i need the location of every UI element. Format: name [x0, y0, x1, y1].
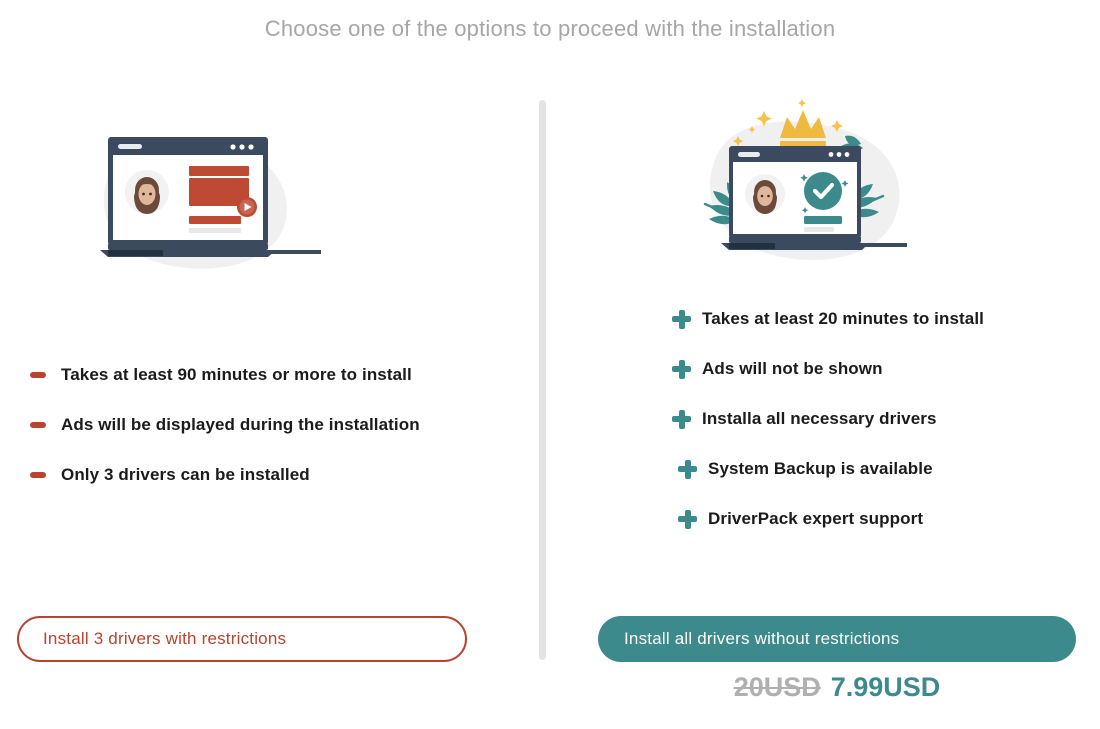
laptop-premium-crown-illustration — [691, 88, 921, 268]
list-item: Only 3 drivers can be installed — [30, 458, 569, 492]
free-plan-feature-list: Takes at least 90 minutes or more to ins… — [30, 358, 569, 508]
feature-label: Ads will be displayed during the install… — [61, 415, 420, 435]
feature-label: Takes at least 20 minutes to install — [702, 309, 984, 329]
feature-label: DriverPack expert support — [708, 509, 923, 529]
plus-icon — [672, 410, 691, 429]
minus-icon — [30, 372, 46, 378]
list-item: Takes at least 90 minutes or more to ins… — [30, 358, 569, 392]
install-restricted-button[interactable]: Install 3 drivers with restrictions — [17, 616, 467, 662]
feature-label: System Backup is available — [708, 459, 933, 479]
feature-label: Ads will not be shown — [702, 359, 883, 379]
price-row: 20USD7.99USD — [598, 672, 1076, 703]
list-item: DriverPack expert support — [672, 502, 1100, 536]
feature-label: Takes at least 90 minutes or more to ins… — [61, 365, 412, 385]
paid-plan-column: Takes at least 20 minutes to install Ads… — [546, 0, 1100, 729]
feature-label: Installa all necessary drivers — [702, 409, 937, 429]
list-item: Takes at least 20 minutes to install — [672, 302, 1100, 336]
install-all-button[interactable]: Install all drivers without restrictions — [598, 616, 1076, 662]
minus-icon — [30, 422, 46, 428]
price-original: 20USD — [734, 672, 821, 702]
price-discounted: 7.99USD — [831, 672, 941, 702]
laptop-with-ads-illustration — [75, 120, 325, 280]
feature-label: Only 3 drivers can be installed — [61, 465, 310, 485]
paid-plan-feature-list: Takes at least 20 minutes to install Ads… — [672, 302, 1100, 552]
minus-icon — [30, 472, 46, 478]
list-item: Ads will not be shown — [672, 352, 1100, 386]
plus-icon — [672, 310, 691, 329]
list-item: Ads will be displayed during the install… — [30, 408, 569, 442]
list-item: System Backup is available — [672, 452, 1100, 486]
plus-icon — [678, 510, 697, 529]
free-plan-column: Takes at least 90 minutes or more to ins… — [0, 0, 539, 729]
list-item: Installa all necessary drivers — [672, 402, 1100, 436]
plus-icon — [672, 360, 691, 379]
plus-icon — [678, 460, 697, 479]
